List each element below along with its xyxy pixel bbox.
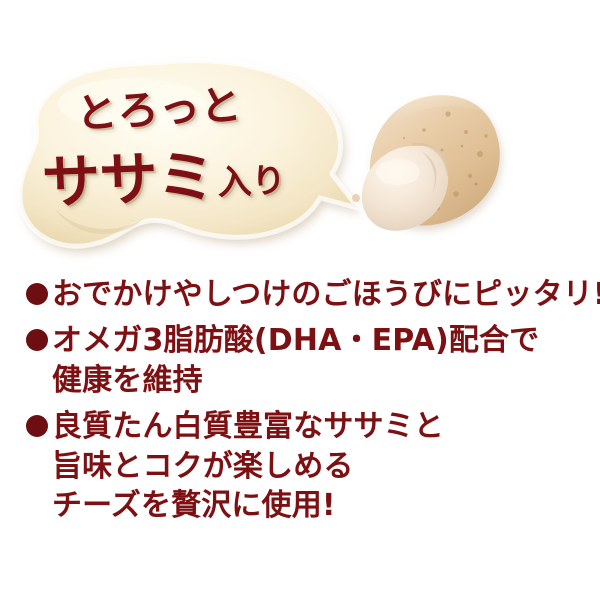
bubble-text-group: とろっと ササミ 入り — [14, 58, 364, 263]
feature-bullet-list: おでかけやしつけのごほうびにピッタリ! オメガ3脂肪酸(DHA・EPA)配合で … — [26, 275, 586, 532]
bullet-line: チーズを贅沢に使用! — [52, 486, 586, 526]
bullet-line: 良質たん白質豊富なササミと — [52, 407, 586, 447]
bullet-dot-icon — [26, 283, 48, 305]
bullet-line: 旨味とコクが楽しめる — [52, 447, 586, 487]
bubble-word-sasami: ササミ — [40, 129, 215, 220]
bullet-line: おでかけやしつけのごほうびにピッタリ! — [52, 275, 600, 315]
bullet-dot-icon — [26, 415, 48, 437]
promo-card: とろっと ササミ 入り — [0, 0, 600, 600]
bullet-dot-icon — [26, 329, 48, 351]
bullet-line: オメガ3脂肪酸(DHA・EPA)配合で — [52, 321, 586, 361]
bullet-item-protein-cheese: 良質たん白質豊富なササミと 旨味とコクが楽しめる チーズを贅沢に使用! — [26, 407, 586, 527]
crumb — [352, 194, 360, 202]
bubble-word-iri: 入り — [217, 153, 287, 205]
product-photo — [352, 80, 527, 265]
bullet-item-reward: おでかけやしつけのごほうびにピッタリ! — [26, 275, 586, 315]
product-illustration — [352, 80, 527, 265]
bullet-line: 健康を維持 — [52, 361, 586, 401]
bubble-line-sasami-iri: ササミ 入り — [40, 127, 287, 220]
speech-bubble: とろっと ササミ 入り — [14, 58, 364, 263]
bullet-item-omega3: オメガ3脂肪酸(DHA・EPA)配合で 健康を維持 — [26, 321, 586, 401]
